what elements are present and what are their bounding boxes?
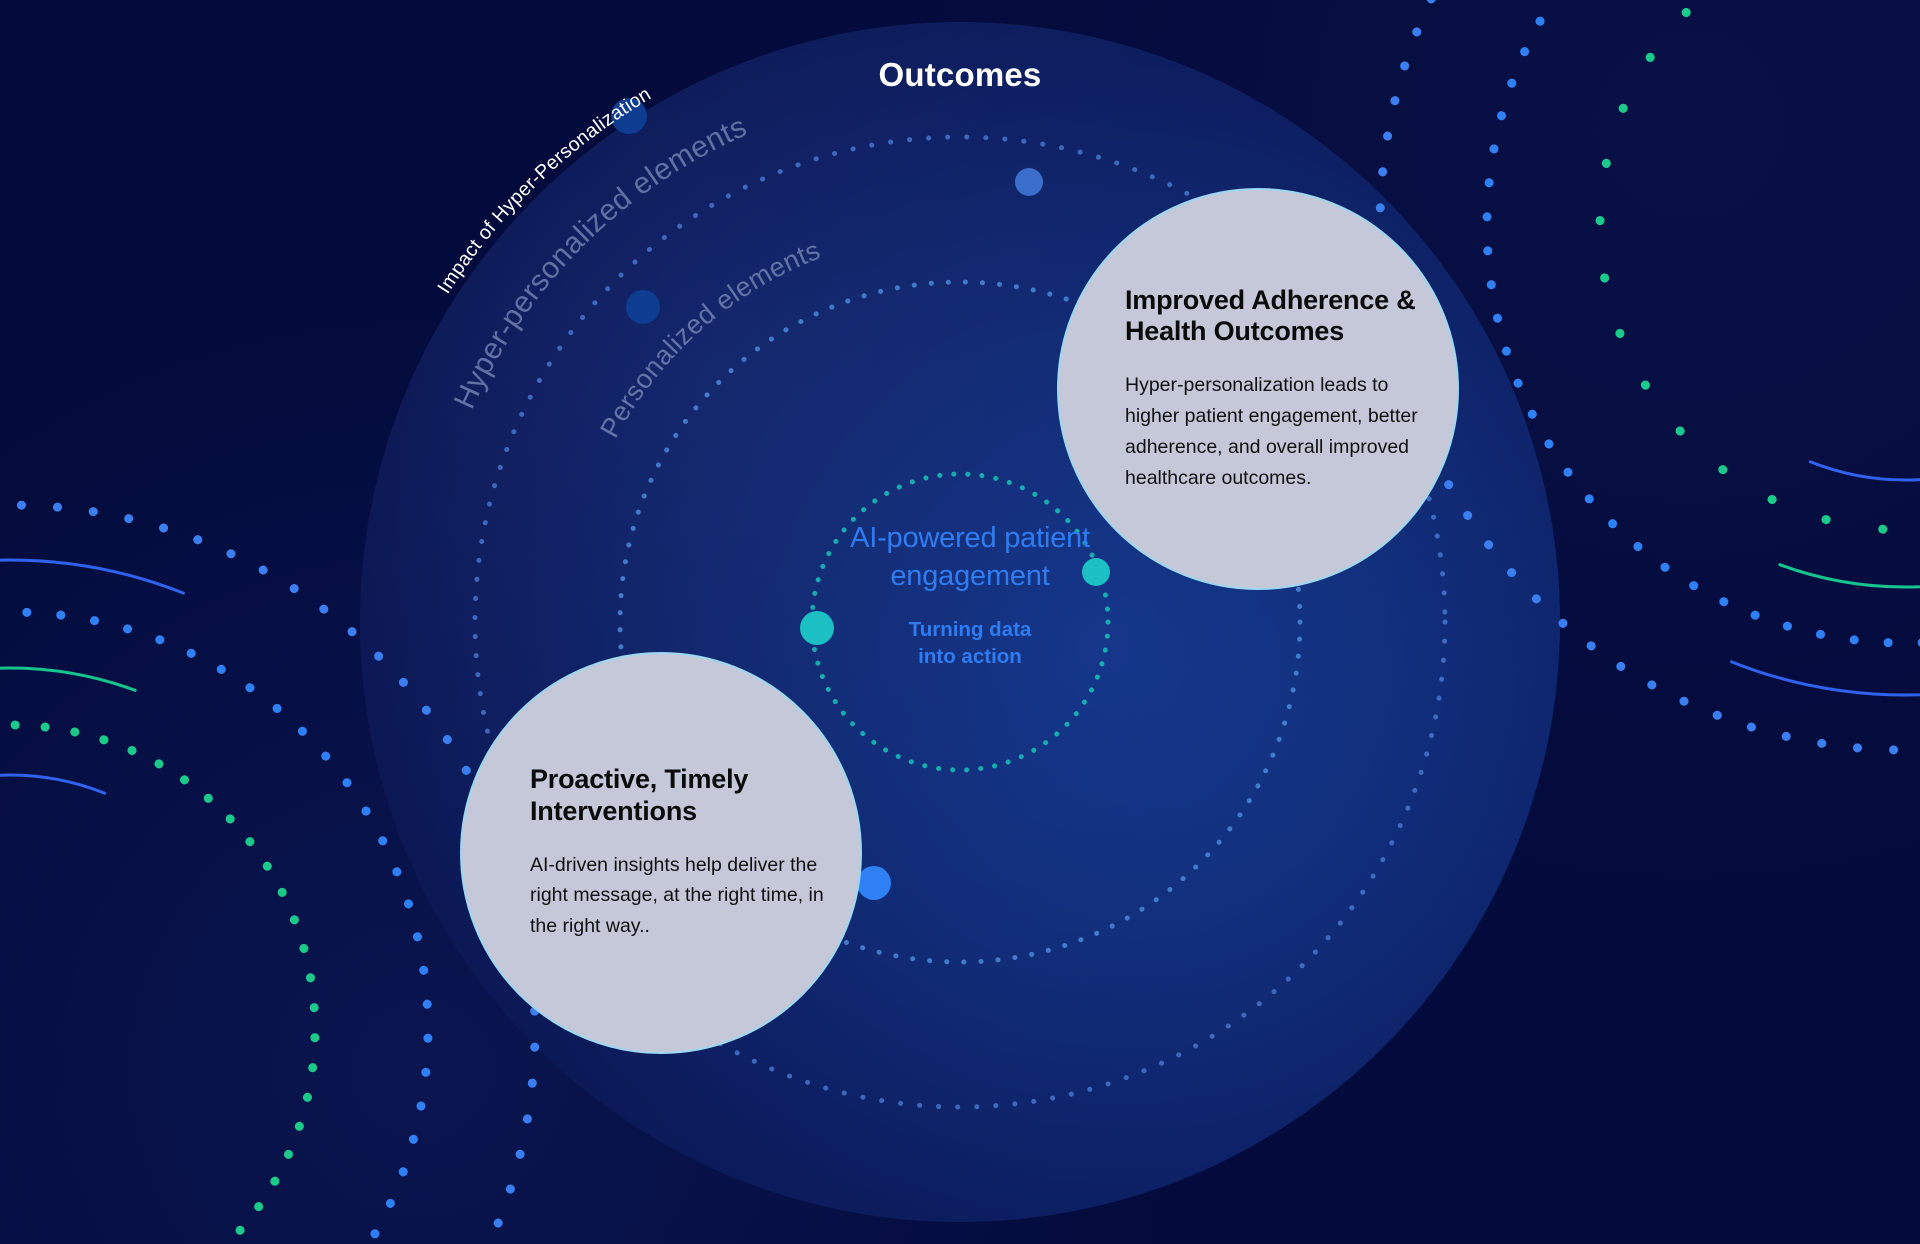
outcome-card-improved-adherence[interactable]: Improved Adherence & Health Outcomes Hyp…	[1057, 188, 1459, 590]
outer-ring-label: Hyper-personalized elements	[448, 110, 752, 414]
inner-ring-label: Personalized elements	[594, 235, 824, 443]
ring-labels-layer: Hyper-personalized elements Personalized…	[0, 0, 1920, 1244]
outcome-card-proactive-interventions[interactable]: Proactive, Timely Interventions AI-drive…	[460, 652, 862, 1054]
infographic-canvas: Hyper-personalized elements Personalized…	[0, 0, 1920, 1244]
outer-ring-label-text: Hyper-personalized elements	[448, 110, 752, 414]
outcome-card-heading: Improved Adherence & Health Outcomes	[1125, 285, 1423, 349]
inner-ring-label-text: Personalized elements	[594, 235, 824, 443]
outcome-card-body: Hyper-personalization leads to higher pa…	[1125, 370, 1423, 493]
outcome-card-heading: Proactive, Timely Interventions	[530, 764, 824, 828]
outcome-card-body: AI-driven insights help deliver the righ…	[530, 850, 824, 942]
